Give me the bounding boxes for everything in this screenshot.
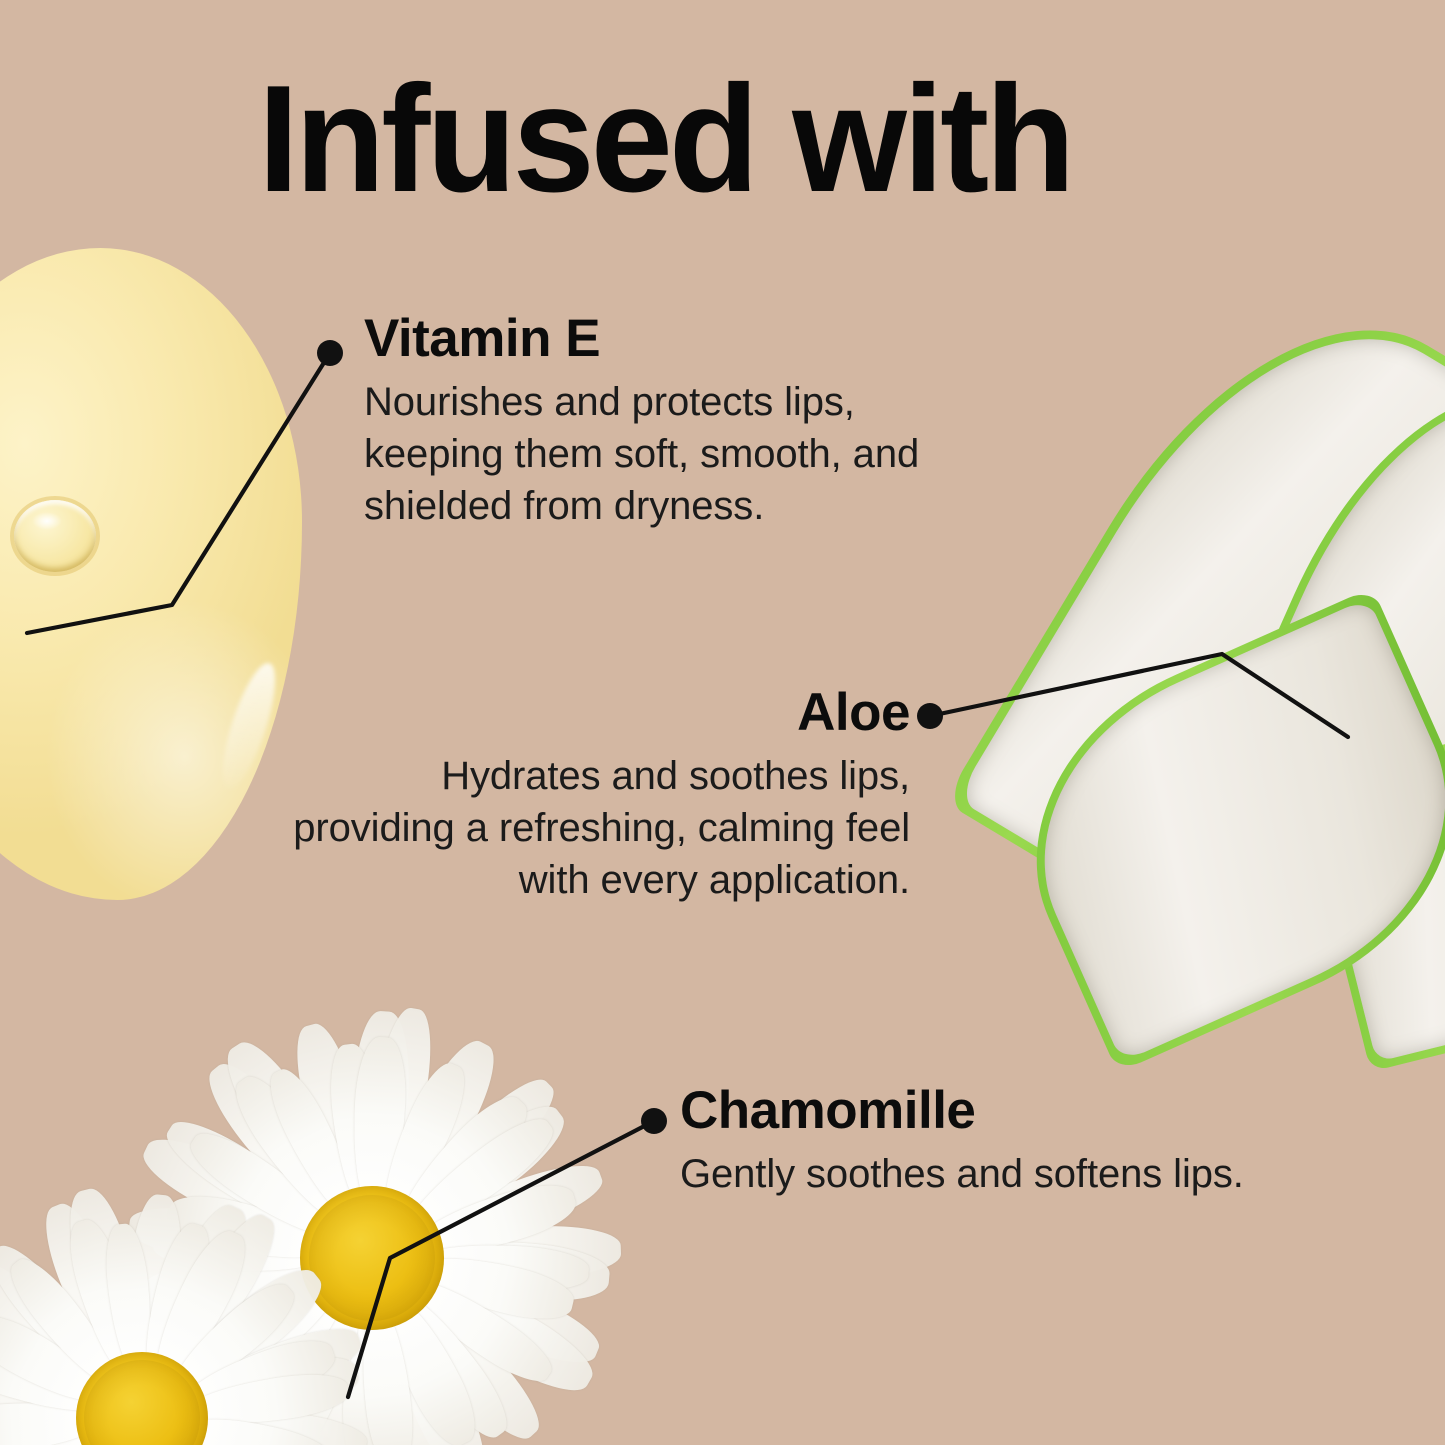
page-title: Infused with <box>258 63 1071 215</box>
leader-line-vitamin-e <box>27 353 330 633</box>
callout-title-vitamin-e: Vitamin E <box>364 312 984 365</box>
leader-line-aloe <box>930 654 1348 737</box>
callout-body-line: providing a refreshing, calming feel <box>293 806 910 850</box>
leader-dot-aloe <box>917 703 943 729</box>
callout-body-line: shielded from dryness. <box>364 484 764 528</box>
callout-body-line: with every application. <box>519 858 910 902</box>
callout-title-aloe: Aloe <box>258 686 910 739</box>
callout-body-line: keeping them soft, smooth, and <box>364 432 919 476</box>
callout-title-chamomille: Chamomille <box>680 1084 1300 1137</box>
callout-aloe: Aloe Hydrates and soothes lips, providin… <box>258 686 910 906</box>
infographic-canvas: Infused with Vitamin E Nourishes and pro… <box>0 0 1445 1445</box>
callout-vitamin-e: Vitamin E Nourishes and protects lips, k… <box>364 312 984 532</box>
leader-dot-chamomille <box>641 1108 667 1134</box>
callout-chamomille: Chamomille Gently soothes and softens li… <box>680 1084 1300 1200</box>
callout-body-line: Gently soothes and softens lips. <box>680 1152 1244 1196</box>
callout-body-chamomille: Gently soothes and softens lips. <box>680 1148 1300 1200</box>
callout-body-line: Hydrates and soothes lips, <box>441 754 910 798</box>
callout-body-aloe: Hydrates and soothes lips, providing a r… <box>258 750 910 906</box>
callout-body-vitamin-e: Nourishes and protects lips, keeping the… <box>364 376 984 532</box>
leader-line-chamomille <box>348 1121 654 1397</box>
leader-dot-vitamin-e <box>317 340 343 366</box>
callout-body-line: Nourishes and protects lips, <box>364 380 855 424</box>
